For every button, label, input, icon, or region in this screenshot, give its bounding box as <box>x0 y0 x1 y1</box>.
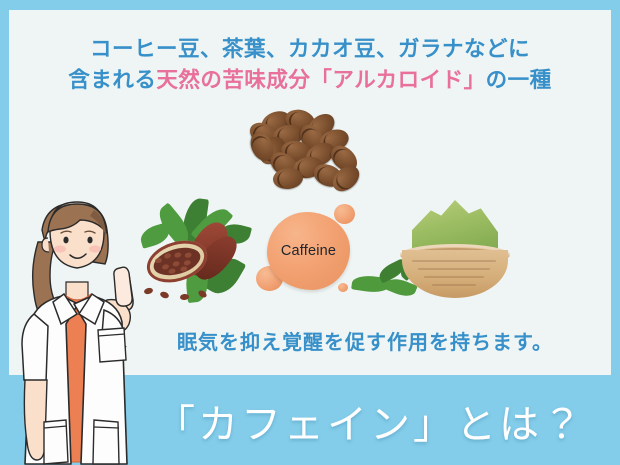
sub-caption: 眠気を抑え覚醒を促す作用を持ちます。 <box>150 326 580 355</box>
headline-line-2: 含まれる天然の苦味成分「アルカロイド」の一種 <box>9 65 611 96</box>
headline-line2-prefix: 含まれる <box>68 68 156 92</box>
matcha-powder-bowl <box>392 196 517 306</box>
bottom-title: 「カフェイン」とは？ <box>150 392 590 450</box>
infographic-canvas: コーヒー豆、茶葉、カカオ豆、ガラナなどに 含まれる天然の苦味成分「アルカロイド」… <box>0 0 620 465</box>
headline-line2-suffix: の一種 <box>486 68 552 92</box>
coffee-beans-pile <box>243 110 363 195</box>
headline-line2-highlight: 天然の苦味成分「アルカロイド」 <box>156 68 485 92</box>
caffeine-label: Caffeine <box>267 212 350 290</box>
headline-line-1: コーヒー豆、茶葉、カカオ豆、ガラナなどに <box>90 37 530 61</box>
bowl-body <box>402 250 508 298</box>
caffeine-blob-body: Caffeine <box>267 212 350 290</box>
cacao-pod-with-leaves <box>140 198 252 303</box>
female-scientist-pointing-up <box>12 190 147 465</box>
headline: コーヒー豆、茶葉、カカオ豆、ガラナなどに 含まれる天然の苦味成分「アルカロイド」… <box>9 34 611 95</box>
